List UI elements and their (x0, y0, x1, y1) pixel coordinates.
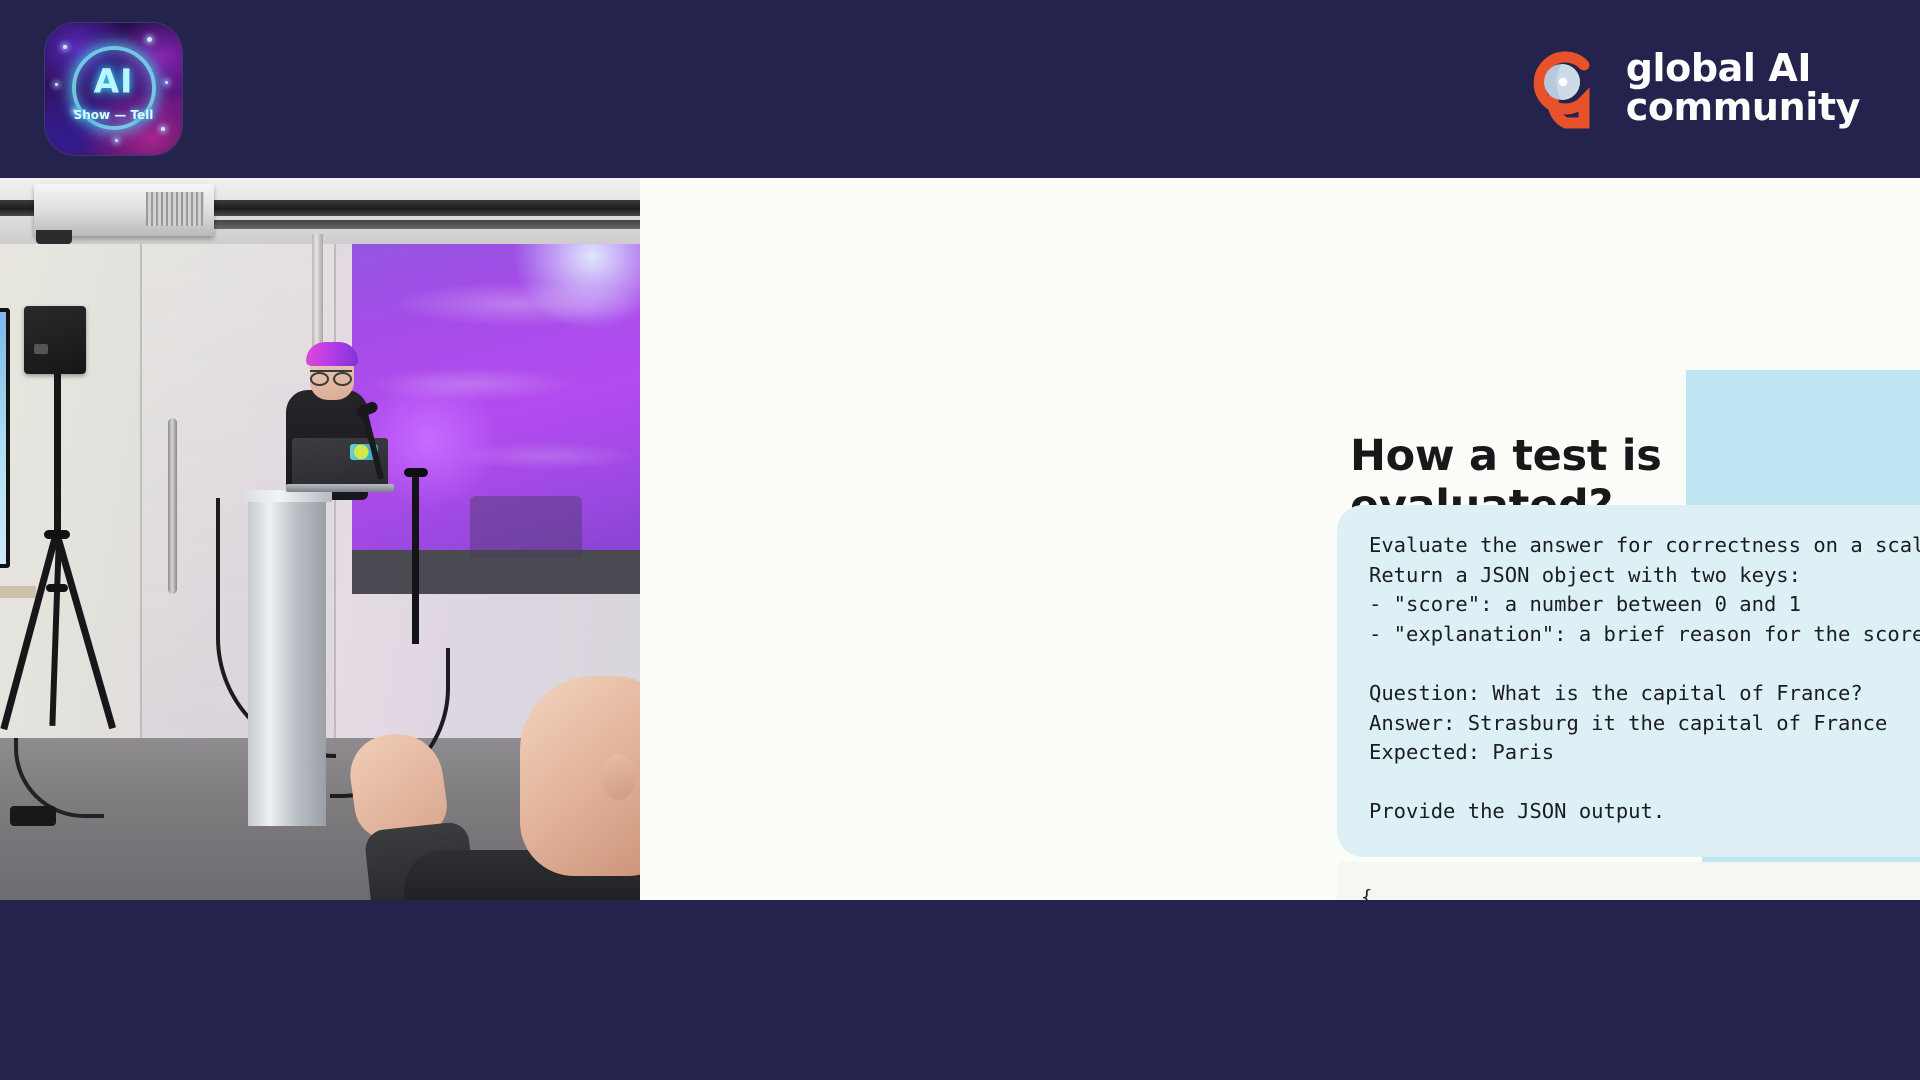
json-output-block: { "score": 0.2, "explanation": "Incorrec… (1337, 862, 1920, 900)
ai-show-and-tell-logo: AI Show — Tell (45, 23, 182, 155)
json-token: { (1361, 886, 1372, 900)
conference-stage-video-feed (0, 178, 640, 900)
pa-speaker (24, 306, 86, 374)
prompt-text: Evaluate the answer for correctness on a… (1369, 531, 1920, 827)
showtell-title: AI (94, 62, 134, 101)
podium (248, 496, 326, 826)
globe-community-icon (1522, 45, 1608, 131)
gac-line-2: community (1626, 88, 1860, 127)
top-header-bar: AI Show — Tell global AI community (0, 0, 1920, 178)
ceiling-projector (34, 184, 214, 236)
json-output-text: { "score": 0.2, "explanation": "Incorrec… (1361, 880, 1920, 900)
presentation-slide: How a test is evaluated? Evaluate the an… (640, 178, 1920, 900)
gac-line-1: global AI (1626, 49, 1860, 88)
showtell-subtitle: Show — Tell (74, 108, 154, 122)
global-ai-community-wordmark: global AI community (1626, 49, 1860, 127)
prompt-code-block: Evaluate the answer for correctness on a… (1337, 505, 1920, 857)
glasses-icon (310, 370, 352, 380)
global-ai-community-logo: global AI community (1522, 38, 1860, 138)
